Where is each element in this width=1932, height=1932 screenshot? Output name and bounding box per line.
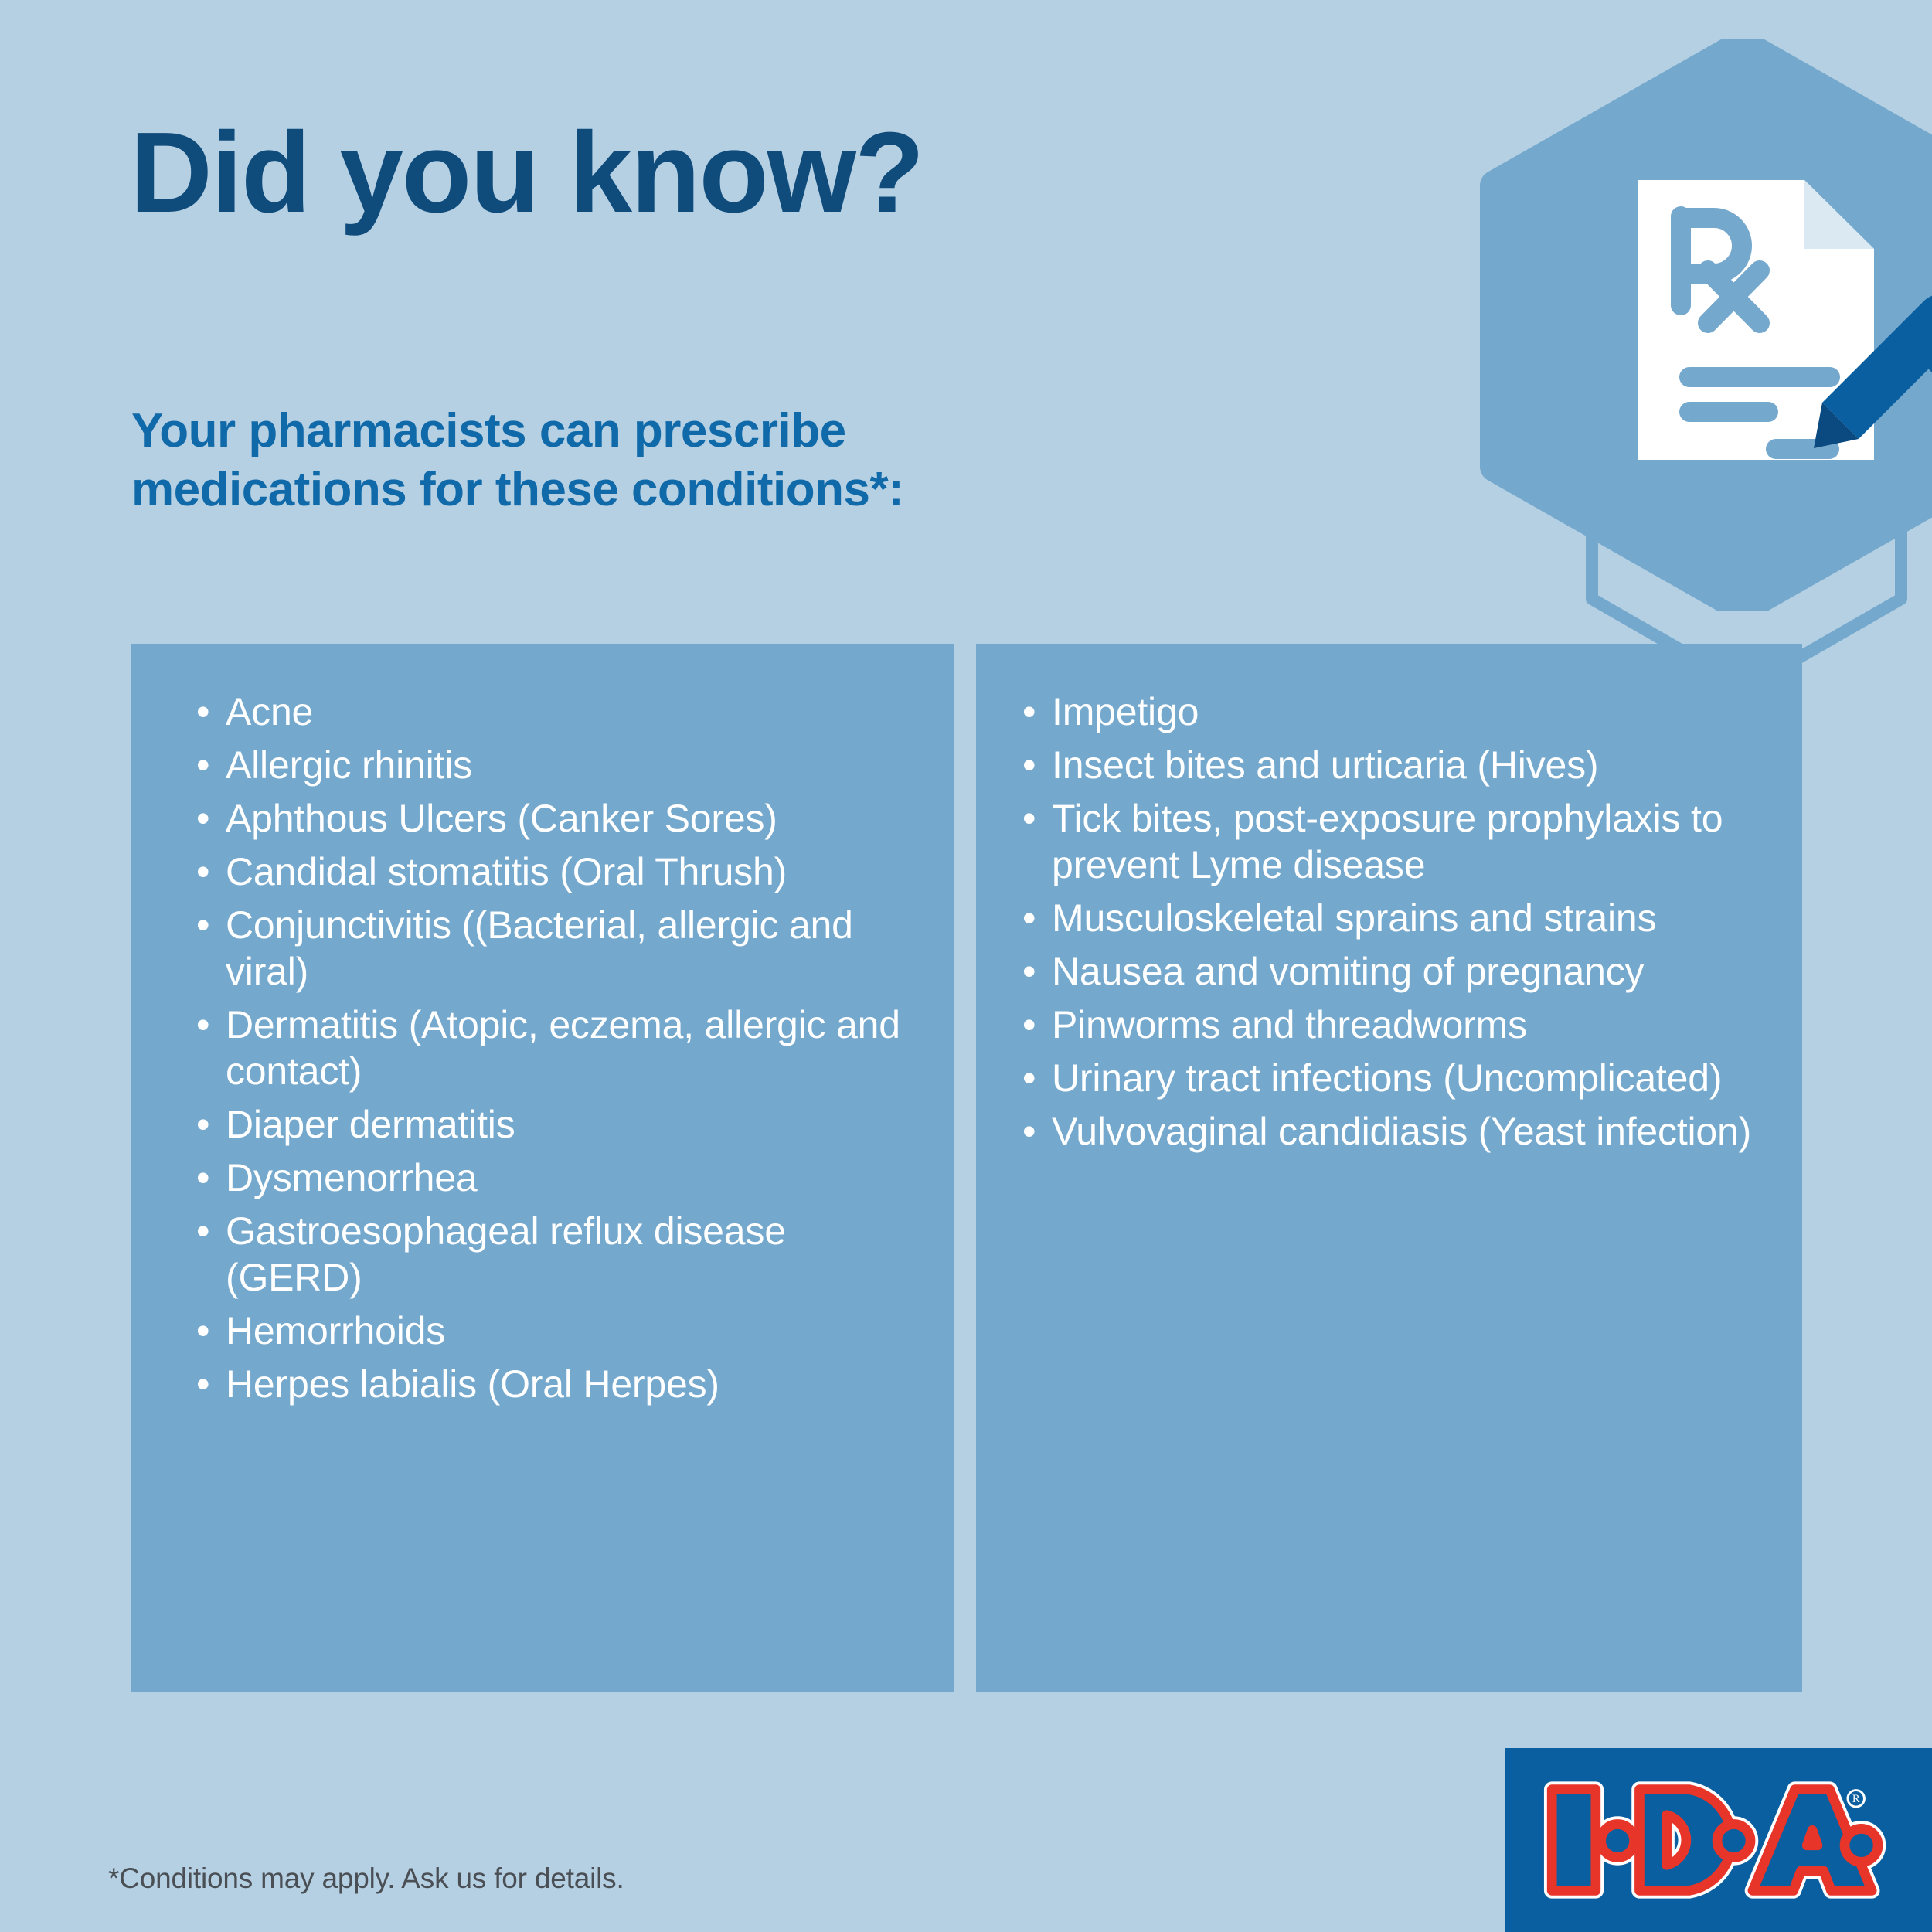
svg-text:R: R bbox=[1852, 1793, 1860, 1805]
list-item: •Impetigo bbox=[1019, 689, 1779, 735]
list-item: •Aphthous Ulcers (Canker Sores) bbox=[193, 795, 931, 842]
list-item-label: Musculoskeletal sprains and strains bbox=[1052, 896, 1656, 940]
conditions-panel-left: •Acne •Allergic rhinitis •Aphthous Ulcer… bbox=[131, 644, 954, 1692]
list-item: •Urinary tract infections (Uncomplicated… bbox=[1019, 1055, 1779, 1101]
bullet-icon: • bbox=[1022, 948, 1036, 995]
list-item-label: Tick bites, post-exposure prophylaxis to… bbox=[1052, 797, 1723, 886]
bullet-icon: • bbox=[196, 1101, 209, 1148]
list-item-label: Hemorrhoids bbox=[226, 1309, 445, 1352]
bullet-icon: • bbox=[1022, 689, 1036, 735]
list-item-label: Acne bbox=[226, 690, 313, 733]
list-item-label: Herpes labialis (Oral Herpes) bbox=[226, 1362, 719, 1406]
bullet-icon: • bbox=[196, 795, 209, 842]
list-item: •Candidal stomatitis (Oral Thrush) bbox=[193, 849, 931, 895]
list-item: •Pinworms and threadworms bbox=[1019, 1002, 1779, 1048]
list-item: •Diaper dermatitis bbox=[193, 1101, 931, 1148]
list-item-label: Diaper dermatitis bbox=[226, 1103, 515, 1146]
list-item: •Vulvovaginal candidiasis (Yeast infecti… bbox=[1019, 1108, 1779, 1155]
registered-trademark-icon: R bbox=[1848, 1791, 1864, 1807]
list-item-label: Nausea and vomiting of pregnancy bbox=[1052, 950, 1644, 993]
bullet-icon: • bbox=[1022, 1002, 1036, 1048]
list-item-label: Gastroesophageal reflux disease (GERD) bbox=[226, 1209, 786, 1299]
bullet-icon: • bbox=[196, 849, 209, 895]
conditions-panel-right: •Impetigo •Insect bites and urticaria (H… bbox=[976, 644, 1802, 1692]
bullet-icon: • bbox=[1022, 1055, 1036, 1101]
list-item-label: Urinary tract infections (Uncomplicated) bbox=[1052, 1056, 1722, 1100]
list-item-label: Candidal stomatitis (Oral Thrush) bbox=[226, 850, 787, 893]
list-item-label: Insect bites and urticaria (Hives) bbox=[1052, 743, 1598, 787]
list-item: •Tick bites, post-exposure prophylaxis t… bbox=[1019, 795, 1779, 888]
bullet-icon: • bbox=[196, 1002, 209, 1048]
list-item-label: Impetigo bbox=[1052, 690, 1199, 733]
list-item: •Dermatitis (Atopic, eczema, allergic an… bbox=[193, 1002, 931, 1094]
list-item: •Nausea and vomiting of pregnancy bbox=[1019, 948, 1779, 995]
list-item: •Conjunctivitis ((Bacterial, allergic an… bbox=[193, 902, 931, 995]
list-item: •Dysmenorrhea bbox=[193, 1155, 931, 1201]
subtitle-line-1: Your pharmacists can prescribe bbox=[131, 402, 903, 461]
list-item: •Gastroesophageal reflux disease (GERD) bbox=[193, 1208, 931, 1301]
prescription-icon-badge bbox=[1457, 39, 1932, 611]
list-item: •Musculoskeletal sprains and strains bbox=[1019, 895, 1779, 941]
bullet-icon: • bbox=[196, 1208, 209, 1254]
footnote-text: *Conditions may apply. Ask us for detail… bbox=[108, 1862, 624, 1895]
list-item: •Herpes labialis (Oral Herpes) bbox=[193, 1361, 931, 1407]
page-subtitle: Your pharmacists can prescribe medicatio… bbox=[131, 402, 903, 519]
list-item-label: Pinworms and threadworms bbox=[1052, 1003, 1527, 1046]
logo-panel: R bbox=[1505, 1748, 1932, 1932]
bullet-icon: • bbox=[196, 1155, 209, 1201]
bullet-icon: • bbox=[1022, 895, 1036, 941]
infographic-poster: Did you know? Your pharmacists can presc… bbox=[0, 0, 1932, 1932]
bullet-icon: • bbox=[196, 742, 209, 788]
bullet-icon: • bbox=[196, 902, 209, 948]
list-item-label: Allergic rhinitis bbox=[226, 743, 472, 787]
list-item: •Allergic rhinitis bbox=[193, 742, 931, 788]
list-item-label: Vulvovaginal candidiasis (Yeast infectio… bbox=[1052, 1110, 1751, 1153]
list-item: •Acne bbox=[193, 689, 931, 735]
list-item-label: Aphthous Ulcers (Canker Sores) bbox=[226, 797, 777, 840]
list-item: •Insect bites and urticaria (Hives) bbox=[1019, 742, 1779, 788]
list-item-label: Conjunctivitis ((Bacterial, allergic and… bbox=[226, 903, 853, 993]
bullet-icon: • bbox=[196, 1308, 209, 1354]
list-item-label: Dermatitis (Atopic, eczema, allergic and… bbox=[226, 1003, 900, 1093]
bullet-icon: • bbox=[1022, 742, 1036, 788]
list-item: •Hemorrhoids bbox=[193, 1308, 931, 1354]
conditions-list-left: •Acne •Allergic rhinitis •Aphthous Ulcer… bbox=[131, 644, 954, 1407]
bullet-icon: • bbox=[1022, 1108, 1036, 1155]
subtitle-line-2: medications for these conditions*: bbox=[131, 461, 903, 519]
list-item-label: Dysmenorrhea bbox=[226, 1156, 478, 1199]
bullet-icon: • bbox=[196, 689, 209, 735]
ida-pharmacy-logo: R bbox=[1541, 1776, 1896, 1904]
bullet-icon: • bbox=[196, 1361, 209, 1407]
conditions-list-right: •Impetigo •Insect bites and urticaria (H… bbox=[976, 644, 1802, 1155]
bullet-icon: • bbox=[1022, 795, 1036, 842]
page-title: Did you know? bbox=[130, 116, 923, 230]
